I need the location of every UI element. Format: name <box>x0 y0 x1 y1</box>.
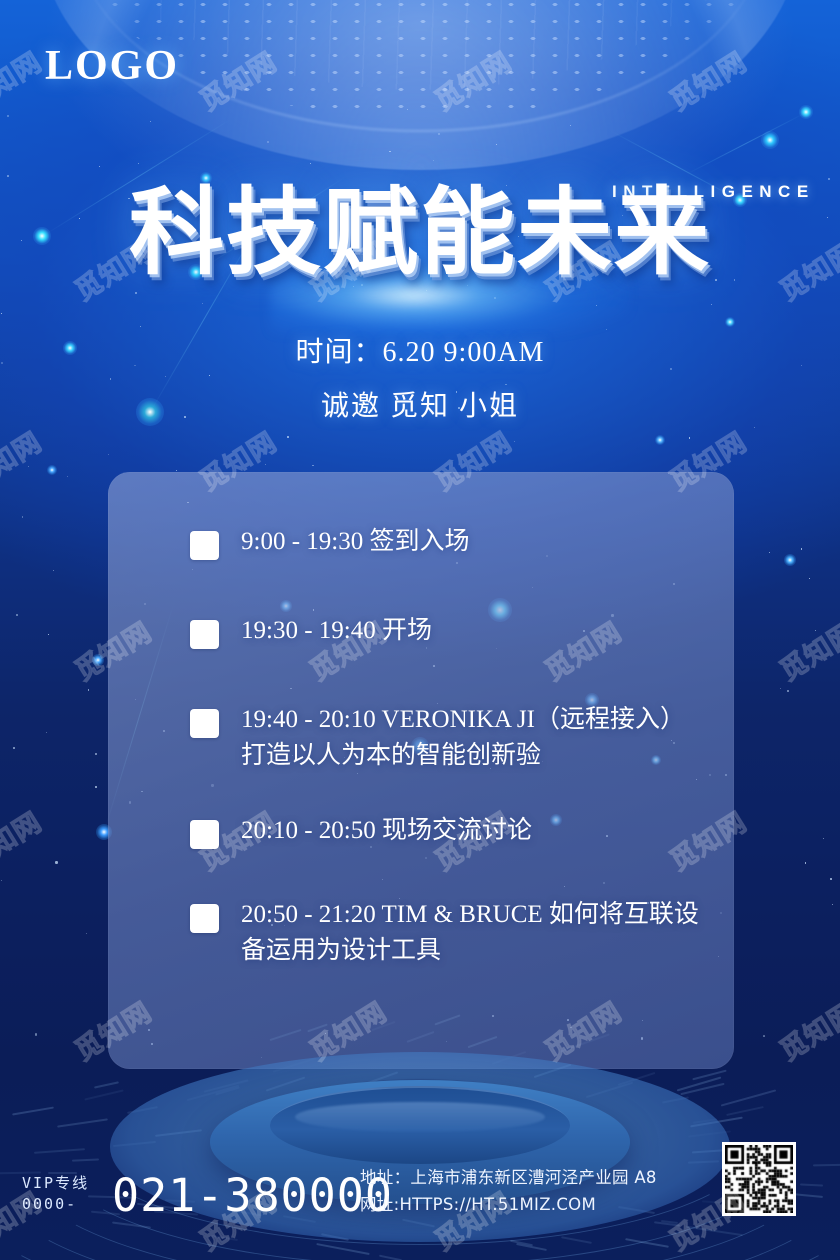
watermark: 觅知网 <box>0 41 48 119</box>
event-time: 时间：6.20 9:00AM <box>0 330 840 370</box>
checkbox-icon[interactable] <box>190 709 219 738</box>
star-dot <box>7 115 9 117</box>
star-dot <box>99 166 100 167</box>
star-dot <box>138 163 139 164</box>
star-dot <box>801 548 803 550</box>
logo[interactable]: LOGO <box>45 42 179 90</box>
star-dot <box>1 880 2 881</box>
star-dot <box>711 304 712 305</box>
star-dot <box>13 747 15 749</box>
star-dot <box>86 933 87 934</box>
star-dot <box>815 630 816 631</box>
star-dot <box>110 378 111 379</box>
star-dot <box>310 163 311 164</box>
vip-hotline-block: VIP专线 0000- <box>22 1173 89 1217</box>
checkbox-icon[interactable] <box>190 620 219 649</box>
address-text: 地址：上海市浦东新区漕河泾产业园 A8 <box>360 1165 657 1191</box>
star-dot <box>514 441 515 442</box>
star-dot <box>832 904 833 905</box>
star-dot <box>780 688 781 689</box>
agenda-item[interactable]: 9:00 - 19:30 签到入场 <box>190 524 704 560</box>
star-dot <box>805 862 806 863</box>
contact-block: 地址：上海市浦东新区漕河泾产业园 A8 网址:HTTPS://HT.51MIZ.… <box>360 1165 657 1218</box>
watermark: 觅知网 <box>771 611 840 689</box>
star-dot <box>830 878 832 880</box>
website-text[interactable]: 网址:HTTPS://HT.51MIZ.COM <box>360 1192 657 1218</box>
star-dot <box>754 427 755 428</box>
star-dot <box>287 436 289 438</box>
star-dot <box>787 690 789 692</box>
agenda-item-label: 19:30 - 19:40 开场 <box>241 613 432 649</box>
star-dot <box>202 303 203 304</box>
poster-root: LOGO INTELLIGENCE 科技赋能未来 时间：6.20 9:00AM … <box>0 0 840 1260</box>
watermark: 觅知网 <box>0 421 48 499</box>
checkbox-icon[interactable] <box>190 531 219 560</box>
star-dot <box>823 838 824 839</box>
star-dot <box>95 753 97 755</box>
vip-hotline-prefix: 0000- <box>22 1194 89 1216</box>
vip-hotline-label: VIP专线 <box>22 1173 89 1195</box>
star-dot <box>28 466 29 467</box>
glow-node <box>47 465 57 475</box>
star-dot <box>46 732 48 734</box>
phone-number[interactable]: 021-380000 <box>112 1169 393 1222</box>
agenda-item[interactable]: 20:50 - 21:20 TIM & BRUCE 如何将互联设备运用为设计工具 <box>190 897 704 968</box>
star-dot <box>108 454 109 455</box>
star-dot <box>312 465 314 467</box>
checkbox-icon[interactable] <box>190 904 219 933</box>
agenda-item-label: 20:10 - 20:50 现场交流讨论 <box>241 813 532 849</box>
star-dot <box>828 178 830 180</box>
star-dot <box>55 861 57 863</box>
star-dot <box>95 786 97 788</box>
qr-code[interactable] <box>722 1142 796 1216</box>
star-dot <box>265 464 266 465</box>
glow-node <box>92 654 104 666</box>
agenda-item-label: 19:40 - 20:10 VERONIKA JI（远程接入）打造以人为本的智能… <box>241 702 704 773</box>
connector-beam <box>686 112 806 175</box>
watermark: 觅知网 <box>0 801 48 879</box>
star-dot <box>16 614 18 616</box>
agenda-item-label: 9:00 - 19:30 签到入场 <box>241 524 469 560</box>
glow-node <box>784 554 796 566</box>
star-dot <box>769 552 770 553</box>
footer-bar: VIP专线 0000- 021-380000 地址：上海市浦东新区漕河泾产业园 … <box>0 1140 840 1260</box>
page-title: 科技赋能未来 <box>0 186 840 281</box>
star-dot <box>53 570 54 571</box>
agenda-panel: 9:00 - 19:30 签到入场 19:30 - 19:40 开场 19:40… <box>108 472 734 1069</box>
star-dot <box>809 578 810 579</box>
glow-node <box>725 317 735 327</box>
star-dot <box>1 313 2 314</box>
star-dot <box>7 175 9 177</box>
star-dot <box>165 376 166 377</box>
star-dot <box>689 437 691 439</box>
checkbox-icon[interactable] <box>190 820 219 849</box>
agenda-item[interactable]: 19:30 - 19:40 开场 <box>190 613 704 649</box>
star-dot <box>140 326 141 327</box>
qr-code-image <box>725 1145 793 1213</box>
stage-top-highlight <box>295 1102 545 1132</box>
agenda-item[interactable]: 20:10 - 20:50 现场交流讨论 <box>190 813 704 849</box>
star-dot <box>88 689 89 690</box>
glow-node <box>799 105 813 119</box>
star-dot <box>209 375 210 376</box>
star-dot <box>22 516 23 517</box>
star-dot <box>48 634 49 635</box>
agenda-list: 9:00 - 19:30 签到入场 19:30 - 19:40 开场 19:40… <box>108 472 734 1069</box>
star-dot <box>135 292 137 294</box>
agenda-item-label: 20:50 - 21:20 TIM & BRUCE 如何将互联设备运用为设计工具 <box>241 897 704 968</box>
agenda-item[interactable]: 19:40 - 20:10 VERONIKA JI（远程接入）打造以人为本的智能… <box>190 702 704 773</box>
star-dot <box>67 476 68 477</box>
glow-node <box>761 131 779 149</box>
glow-node <box>655 435 665 445</box>
star-dot <box>150 121 151 122</box>
event-invitee: 诚邀 觅知 小姐 <box>0 384 840 424</box>
